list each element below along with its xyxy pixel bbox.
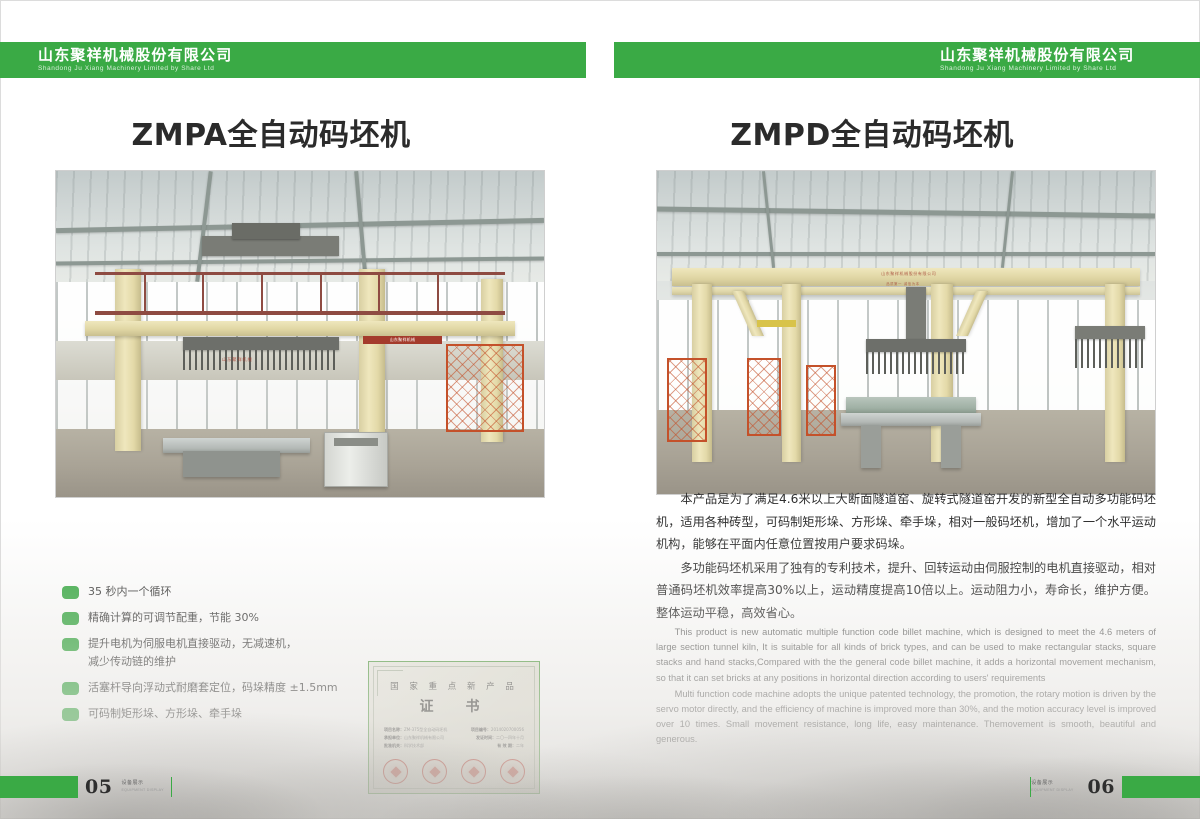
top-machinery-housing <box>232 223 300 239</box>
certificate-field-key: 发证时间： <box>476 735 496 740</box>
pallet-leg <box>941 426 961 468</box>
official-seal-icon <box>422 759 447 784</box>
certificate-field: 有 效 期：二年 <box>497 742 524 750</box>
certificate-field: 承担单位：山东聚祥机械有限公司 <box>384 734 444 742</box>
feature-item: 活塞杆导向浮动式耐磨套定位，码垛精度 ±1.5mm <box>62 679 352 697</box>
rail-post <box>144 272 146 314</box>
official-seal-icon <box>383 759 408 784</box>
certificate-field-row: 批准机关：科学技术部 有 效 期：二年 <box>384 742 524 750</box>
left-page-title: ZMPA全自动码坯机 <box>0 110 600 154</box>
paragraph-cn-1: 本产品是为了满足4.6米以上大断面隧道窑、旋转式隧道窑开发的新型全自动多功能码坯… <box>656 488 1156 556</box>
control-panel-buttons <box>334 438 378 446</box>
beam-banner: 山东聚祥机械 <box>363 336 441 344</box>
header-band: 山东聚祥机械股份有限公司 Shandong Ju Xiang Machinery… <box>0 42 1200 78</box>
footer-accent-bar <box>0 776 78 798</box>
certificate-image: 国 家 重 点 新 产 品 证 书 项目名称：ZM-375型全自动码坯机 项目编… <box>368 661 540 794</box>
main-gantry-beam <box>85 321 514 336</box>
bullet-marker-icon <box>62 638 79 651</box>
right-page-title: ZMPD全自动码坯机 <box>600 110 1200 154</box>
safety-cage <box>446 344 524 432</box>
right-product-photo: 山东聚祥机械股份有限公司 品质第一 诚信为本 <box>656 170 1156 495</box>
feature-text-continuation: 减少传动链的维护 <box>88 653 297 671</box>
gripper-head <box>183 337 339 350</box>
factory-roof <box>657 171 1155 281</box>
brand-name-en: Shandong Ju Xiang Machinery Limited by S… <box>38 64 232 73</box>
certificate-field-key: 承担单位： <box>384 735 404 740</box>
certificate-field-key: 有 效 期： <box>497 743 516 748</box>
footer-accent-bar <box>1122 776 1200 798</box>
certificate-field: 发证时间：二〇一四年十月 <box>476 734 524 742</box>
certificate-field-value: ZM-375型全自动码坯机 <box>404 727 447 732</box>
footer-tag-en: EQUIPMENT DISPLAY <box>121 787 163 794</box>
left-page: ZMPA全自动码坯机 <box>0 78 600 819</box>
pallet-frame <box>183 451 281 477</box>
feature-text: 活塞杆导向浮动式耐磨套定位，码垛精度 ±1.5mm <box>88 679 338 697</box>
certificate-field: 批准机关：科学技术部 <box>384 742 424 750</box>
gripper-mast <box>906 287 926 339</box>
certificate-seals <box>369 759 539 784</box>
gripper-teeth <box>183 350 339 370</box>
certificate-field-key: 批准机关： <box>384 743 404 748</box>
official-seal-icon <box>461 759 486 784</box>
platform-rail <box>95 311 505 315</box>
bullet-marker-icon <box>62 708 79 721</box>
feature-text: 35 秒内一个循环 <box>88 583 172 601</box>
certificate-field-value: 2014020700056 <box>491 727 524 732</box>
gantry-company-text: 山东聚祥机械股份有限公司 <box>881 271 936 277</box>
right-page-footer: 设备展示 EQUIPMENT DISPLAY 06 <box>1030 773 1200 801</box>
certificate-field-key: 项目编号： <box>471 727 491 732</box>
feature-text: 提升电机为伺服电机直接驱动，无减速机， <box>88 637 297 650</box>
footer-tag-en: EQUIPMENT DISPLAY <box>1031 787 1073 794</box>
footer-tag-cn: 设备展示 <box>1031 780 1073 787</box>
bullet-marker-icon <box>62 612 79 625</box>
brand-name-cn-right: 山东聚祥机械股份有限公司 <box>940 47 1134 64</box>
safety-cage <box>806 365 836 436</box>
roof-beam <box>657 252 1155 256</box>
certificate-field-value: 科学技术部 <box>404 743 424 748</box>
feature-text: 精确计算的可调节配重，节能 30% <box>88 609 259 627</box>
feature-text: 可码制矩形垛、方形垛、牵手垛 <box>88 705 242 723</box>
gantry-column <box>359 269 386 445</box>
certificate-field: 项目名称：ZM-375型全自动码坯机 <box>384 726 447 734</box>
left-product-photo: 山东聚祥机械 山东聚祥机械 <box>55 170 545 498</box>
footer-divider <box>171 777 172 797</box>
secondary-gripper-teeth <box>1075 339 1145 368</box>
brand-right: 山东聚祥机械股份有限公司 Shandong Ju Xiang Machinery… <box>940 42 1134 78</box>
gantry-slogan-text: 品质第一 诚信为本 <box>886 281 920 286</box>
page-number: 06 <box>1088 776 1115 798</box>
certificate-header: 国 家 重 点 新 产 品 <box>378 680 530 692</box>
page-number: 05 <box>85 776 112 798</box>
secondary-gripper-head <box>1075 326 1145 339</box>
bullet-marker-icon <box>62 682 79 695</box>
brochure-spread: 山东聚祥机械股份有限公司 Shandong Ju Xiang Machinery… <box>0 0 1200 819</box>
rail-post <box>261 272 263 314</box>
certificate-field-value: 二年 <box>516 743 524 748</box>
rail-post <box>320 272 322 314</box>
feature-item: 精确计算的可调节配重，节能 30% <box>62 609 352 627</box>
certificate-title: 证 书 <box>378 696 530 716</box>
left-page-footer: 05 设备展示 EQUIPMENT DISPLAY <box>0 773 172 801</box>
brand-left: 山东聚祥机械股份有限公司 Shandong Ju Xiang Machinery… <box>38 42 232 78</box>
pallet-table <box>841 413 980 426</box>
footer-section-tag: 设备展示 EQUIPMENT DISPLAY <box>119 780 170 794</box>
rail-post <box>378 272 380 314</box>
gantry-column <box>115 269 142 452</box>
certificate-field-row: 承担单位：山东聚祥机械有限公司 发证时间：二〇一四年十月 <box>384 734 524 742</box>
bullet-marker-icon <box>62 586 79 599</box>
gantry-column <box>782 284 802 462</box>
certificate-field-value: 山东聚祥机械有限公司 <box>404 735 444 740</box>
right-page: ZMPD全自动码坯机 <box>600 78 1200 819</box>
certificate-fields: 项目名称：ZM-375型全自动码坯机 项目编号：2014020700056 承担… <box>378 726 530 750</box>
feature-list: 35 秒内一个循环 精确计算的可调节配重，节能 30% 提升电机为伺服电机直接驱… <box>62 583 352 731</box>
paragraph-cn-2: 多功能码坯机采用了独有的专利技术，提升、回转运动由伺服控制的电机直接驱动，相对普… <box>656 557 1156 625</box>
pallet-leg <box>861 426 881 468</box>
paragraph-en-2: Multi function code machine adopts the u… <box>656 687 1156 748</box>
gripper-head <box>866 339 966 352</box>
official-seal-icon <box>500 759 525 784</box>
certificate-field: 项目编号：2014020700056 <box>471 726 524 734</box>
footer-tag-cn: 设备展示 <box>121 780 163 787</box>
certificate-field-key: 项目名称： <box>384 727 404 732</box>
safety-cage <box>667 358 707 442</box>
certificate-field-row: 项目名称：ZM-375型全自动码坯机 项目编号：2014020700056 <box>384 726 524 734</box>
safety-cage <box>747 358 782 436</box>
brand-name-cn: 山东聚祥机械股份有限公司 <box>38 47 232 64</box>
footer-section-tag: 设备展示 EQUIPMENT DISPLAY <box>1031 780 1080 794</box>
photo-wall-text: 山东聚祥机械 <box>222 357 253 363</box>
feature-item: 35 秒内一个循环 <box>62 583 352 601</box>
gripper-teeth <box>866 352 966 375</box>
feature-item: 提升电机为伺服电机直接驱动，无减速机， 减少传动链的维护 <box>62 635 352 671</box>
rail-post <box>202 272 204 314</box>
paragraph-en-1: This product is new automatic multiple f… <box>656 625 1156 686</box>
platform-rail-top <box>95 272 505 275</box>
certificate-field-value: 二〇一四年十月 <box>496 735 524 740</box>
feature-text-wrapper: 提升电机为伺服电机直接驱动，无减速机， 减少传动链的维护 <box>88 635 297 671</box>
warning-sign <box>757 320 797 327</box>
brand-name-en-right: Shandong Ju Xiang Machinery Limited by S… <box>940 64 1134 73</box>
gantry-column <box>1105 284 1125 462</box>
product-description: 本产品是为了满足4.6米以上大断面隧道窑、旋转式隧道窑开发的新型全自动多功能码坯… <box>656 488 1156 748</box>
rail-post <box>437 272 439 314</box>
stacked-bricks <box>846 397 975 413</box>
feature-item: 可码制矩形垛、方形垛、牵手垛 <box>62 705 352 723</box>
